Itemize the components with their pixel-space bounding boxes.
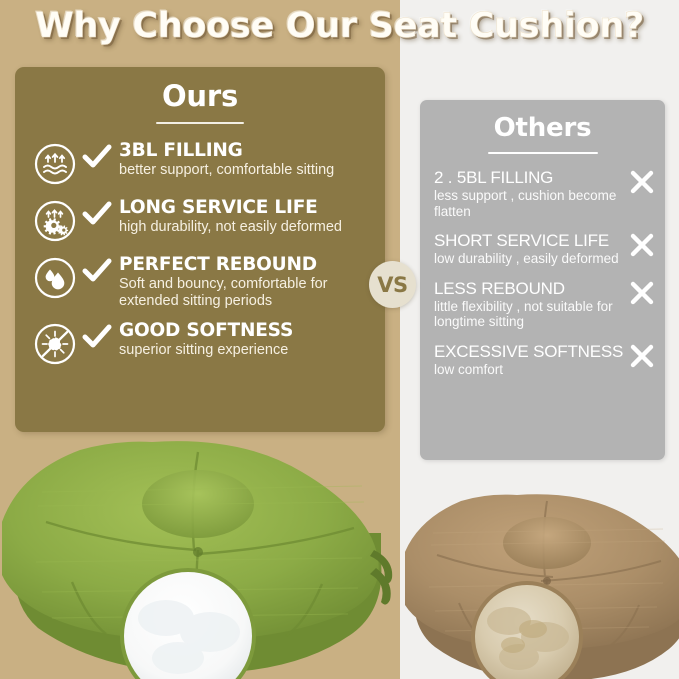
ours-feature-subtitle: superior sitting experience xyxy=(119,342,379,359)
others-feature-row: LESS REBOUND little flexibility , not su… xyxy=(420,279,665,330)
others-feature-text: 2 . 5BL FILLING less support , cushion b… xyxy=(434,168,625,219)
others-feature-row: EXCESSIVE SOFTNESS low comfort xyxy=(420,342,665,378)
vs-badge: VS xyxy=(369,261,416,308)
no-bacteria-sun-icon xyxy=(33,322,77,366)
ours-heading: Ours xyxy=(15,67,385,113)
ours-feature-subtitle: Soft and bouncy, comfortable for extende… xyxy=(119,276,379,309)
ours-feature-row: 3BL FILLING better support, comfortable … xyxy=(15,140,385,186)
others-feature-title: EXCESSIVE SOFTNESS xyxy=(434,342,625,362)
infographic-root: Why Choose Our Seat Cushion? Ours xyxy=(0,0,679,679)
others-feature-row: 2 . 5BL FILLING less support , cushion b… xyxy=(420,168,665,219)
others-feature-text: SHORT SERVICE LIFE low durability , easi… xyxy=(434,231,625,267)
ours-divider xyxy=(156,122,244,124)
ours-product-image xyxy=(2,432,394,679)
gears-up-arrows-icon xyxy=(33,199,77,243)
ours-feature-row: LONG SERVICE LIFE high durability, not e… xyxy=(15,197,385,243)
others-heading: Others xyxy=(420,100,665,143)
others-feature-subtitle: low durability , easily deformed xyxy=(434,251,625,267)
ours-feature-row: GOOD SOFTNESS superior sitting experienc… xyxy=(15,320,385,366)
others-divider xyxy=(488,152,598,154)
ours-feature-text: LONG SERVICE LIFE high durability, not e… xyxy=(117,197,385,236)
ours-feature-title: 3BL FILLING xyxy=(119,140,243,161)
waves-up-arrows-icon xyxy=(33,142,77,186)
others-feature-subtitle: low comfort xyxy=(434,362,625,378)
others-feature-subtitle: little flexibility , not suitable for lo… xyxy=(434,299,625,330)
ours-feature-subtitle: high durability, not easily deformed xyxy=(119,219,379,236)
ours-feature-title: PERFECT REBOUND xyxy=(119,254,317,275)
x-icon xyxy=(629,343,655,369)
others-product-image xyxy=(405,487,679,679)
others-card: Others 2 . 5BL FILLING less support , cu… xyxy=(420,100,665,460)
ours-feature-text: 3BL FILLING better support, comfortable … xyxy=(117,140,385,179)
others-feature-title: SHORT SERVICE LIFE xyxy=(434,231,625,251)
ours-feature-title: GOOD SOFTNESS xyxy=(119,320,293,341)
water-droplets-icon xyxy=(33,256,77,300)
check-icon xyxy=(77,258,117,284)
x-icon xyxy=(629,232,655,258)
ours-feature-text: PERFECT REBOUND Soft and bouncy, comfort… xyxy=(117,254,385,309)
others-feature-text: LESS REBOUND little flexibility , not su… xyxy=(434,279,625,330)
check-icon xyxy=(77,201,117,227)
check-icon xyxy=(77,144,117,170)
others-feature-list: 2 . 5BL FILLING less support , cushion b… xyxy=(420,168,665,389)
ours-feature-title: LONG SERVICE LIFE xyxy=(119,197,318,218)
others-feature-title: 2 . 5BL FILLING xyxy=(434,168,625,188)
check-icon xyxy=(77,324,117,350)
ours-feature-list: 3BL FILLING better support, comfortable … xyxy=(15,140,385,377)
ours-card: Ours xyxy=(15,67,385,432)
ours-feature-subtitle: better support, comfortable sitting xyxy=(119,162,379,179)
others-feature-subtitle: less support , cushion become flatten xyxy=(434,188,625,219)
page-title: Why Choose Our Seat Cushion? xyxy=(0,6,679,46)
others-feature-text: EXCESSIVE SOFTNESS low comfort xyxy=(434,342,625,378)
ours-feature-row: PERFECT REBOUND Soft and bouncy, comfort… xyxy=(15,254,385,309)
x-icon xyxy=(629,280,655,306)
others-feature-row: SHORT SERVICE LIFE low durability , easi… xyxy=(420,231,665,267)
others-feature-title: LESS REBOUND xyxy=(434,279,625,299)
x-icon xyxy=(629,169,655,195)
ours-feature-text: GOOD SOFTNESS superior sitting experienc… xyxy=(117,320,385,359)
